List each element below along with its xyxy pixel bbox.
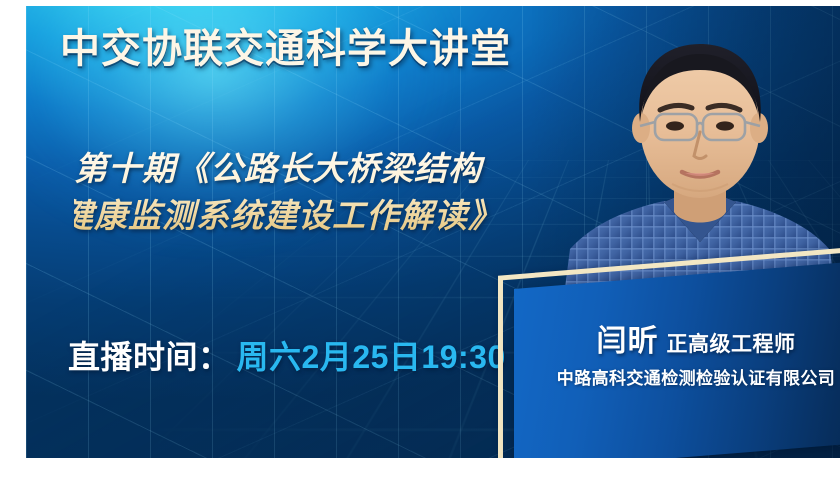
- speaker-organization: 中路高科交通检测检验认证有限公司: [514, 364, 840, 389]
- subtitle-line-1: 第十期《公路长大桥梁结构: [74, 146, 604, 193]
- live-time-label: 直播时间：: [68, 339, 231, 375]
- promo-banner: 中交协联交通科学大讲堂 第十期《公路长大桥梁结构 健康监测系统建设工作解读》 直…: [0, 0, 840, 480]
- speaker-name-row: 闫昕正高级工程师: [514, 316, 840, 360]
- speaker-role: 正高级工程师: [667, 333, 796, 356]
- live-time-value: 周六2月25日19:30: [237, 339, 506, 375]
- live-time-row: 直播时间：周六2月25日19:30: [68, 332, 506, 378]
- banner-stage: 中交协联交通科学大讲堂 第十期《公路长大桥梁结构 健康监测系统建设工作解读》 直…: [26, 6, 840, 458]
- banner-headline: 中交协联交通科学大讲堂: [60, 28, 511, 70]
- speaker-plate-content: 闫昕正高级工程师 中路高科交通检测检验认证有限公司: [514, 274, 840, 456]
- speaker-name: 闫昕: [597, 325, 659, 358]
- speaker-plate-body: 闫昕正高级工程师 中路高科交通检测检验认证有限公司: [514, 259, 840, 458]
- speaker-plate: 闫昕正高级工程师 中路高科交通检测检验认证有限公司: [492, 258, 840, 458]
- subtitle-line-2: 健康监测系统建设工作解读》: [60, 193, 604, 240]
- banner-subtitle: 第十期《公路长大桥梁结构 健康监测系统建设工作解读》: [74, 146, 604, 240]
